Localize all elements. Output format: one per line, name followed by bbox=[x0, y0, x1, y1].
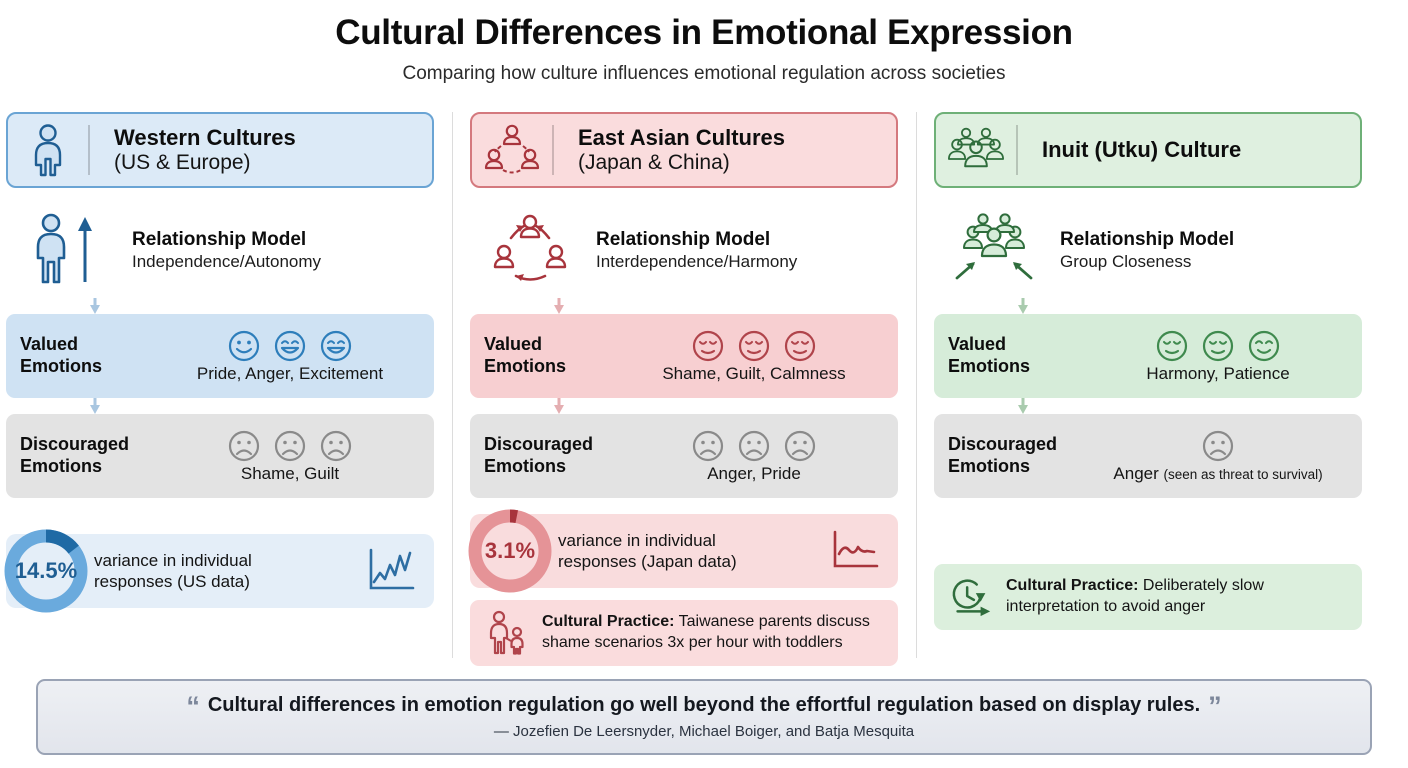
culture-region-western: (US & Europe) bbox=[114, 151, 296, 176]
frown-face-icon bbox=[737, 429, 771, 463]
grin-face-icon bbox=[319, 329, 353, 363]
group-of-people-icon bbox=[948, 122, 1004, 178]
discouraged-emotions-east-asian: Discouraged Emotions bbox=[470, 414, 898, 498]
cultural-practice-inuit: Cultural Practice: Deliberately slow int… bbox=[934, 564, 1362, 630]
quote-attribution: — Jozefien De Leersnyder, Michael Boiger… bbox=[494, 723, 914, 740]
page-title: Cultural Differences in Emotional Expres… bbox=[0, 14, 1408, 53]
valued-label-line1: Valued bbox=[484, 334, 542, 354]
frown-face-icon bbox=[1201, 429, 1235, 463]
connector-arrow-western-1 bbox=[6, 298, 434, 314]
valued-label-line2: Emotions bbox=[20, 356, 102, 376]
practice-text-line2-east-asian: shame scenarios 3x per hour with toddler… bbox=[542, 634, 843, 651]
valued-text-east-asian: Shame, Guilt, Calmness bbox=[662, 364, 845, 384]
culture-name-western: Western Cultures bbox=[114, 125, 296, 151]
volatile-line-chart-icon bbox=[360, 546, 422, 596]
discouraged-faces-inuit bbox=[1201, 429, 1235, 463]
frown-face-icon bbox=[227, 429, 261, 463]
header-divider bbox=[552, 125, 554, 175]
relationship-title-inuit: Relationship Model bbox=[1060, 228, 1234, 252]
connector-arrow-western-2 bbox=[6, 398, 434, 414]
valued-faces-east-asian bbox=[691, 329, 817, 363]
valued-label-line1: Valued bbox=[948, 334, 1006, 354]
stat-row-western: 14.5% variance in individual responses (… bbox=[6, 534, 434, 608]
valued-faces-western bbox=[227, 329, 353, 363]
infographic-page: Cultural Differences in Emotional Expres… bbox=[0, 0, 1408, 768]
discouraged-emotions-inuit: Discouraged Emotions Anger (seen as thre… bbox=[934, 414, 1362, 498]
variance-text-line1-east-asian: variance in individual bbox=[558, 531, 716, 550]
valued-text-western: Pride, Anger, Excitement bbox=[197, 364, 383, 384]
three-people-network-icon bbox=[484, 122, 540, 178]
discouraged-label-line1: Discouraged bbox=[20, 434, 129, 454]
valued-label-line1: Valued bbox=[20, 334, 78, 354]
calm-face-icon bbox=[783, 329, 817, 363]
column-inuit: Inuit (Utku) Culture bbox=[928, 112, 1368, 630]
practice-label-inuit: Cultural Practice: bbox=[1006, 577, 1138, 594]
column-east-asian: East Asian Cultures (Japan & China) bbox=[464, 112, 904, 666]
practice-text-line2-inuit: interpretation to avoid anger bbox=[1006, 598, 1205, 615]
valued-label-line2: Emotions bbox=[484, 356, 566, 376]
discouraged-faces-western bbox=[227, 429, 353, 463]
culture-header-inuit: Inuit (Utku) Culture bbox=[934, 112, 1362, 188]
circular-people-arrows-icon bbox=[478, 210, 582, 290]
calm-face-icon bbox=[737, 329, 771, 363]
culture-name-inuit: Inuit (Utku) Culture bbox=[1042, 137, 1241, 163]
person-with-up-arrow-icon bbox=[14, 212, 118, 288]
relationship-sub-western: Independence/Autonomy bbox=[132, 251, 321, 272]
practice-text-line1-east-asian: Taiwanese parents discuss bbox=[674, 613, 869, 630]
relationship-model-western: Relationship Model Independence/Autonomy bbox=[6, 202, 434, 298]
column-divider-1 bbox=[440, 112, 464, 658]
discouraged-text-east-asian: Anger, Pride bbox=[707, 464, 801, 484]
valued-emotions-east-asian: Valued Emotions bbox=[470, 314, 898, 398]
flat-line-chart-icon bbox=[824, 528, 886, 574]
calm-face-icon bbox=[1201, 329, 1235, 363]
happy-face-icon bbox=[1247, 329, 1281, 363]
variance-text-line1-western: variance in individual bbox=[94, 551, 252, 570]
variance-text-line2-western: responses (US data) bbox=[94, 572, 250, 591]
page-subtitle: Comparing how culture influences emotion… bbox=[0, 63, 1408, 85]
cultural-practice-east-asian: Cultural Practice: Taiwanese parents dis… bbox=[470, 600, 898, 666]
connector-arrow-inuit-1 bbox=[934, 298, 1362, 314]
discouraged-text-note-inuit: (seen as threat to survival) bbox=[1164, 467, 1323, 482]
quote-close-mark: ” bbox=[1208, 694, 1222, 718]
calm-face-icon bbox=[1155, 329, 1189, 363]
group-with-inward-arrows-icon bbox=[942, 210, 1046, 290]
relationship-sub-inuit: Group Closeness bbox=[1060, 251, 1234, 272]
culture-header-western: Western Cultures (US & Europe) bbox=[6, 112, 434, 188]
culture-region-east-asian: (Japan & China) bbox=[578, 151, 785, 176]
relationship-title-western: Relationship Model bbox=[132, 228, 321, 252]
header-divider bbox=[88, 125, 90, 175]
smile-face-icon bbox=[227, 329, 261, 363]
discouraged-text-main-inuit: Anger bbox=[1113, 464, 1163, 483]
variance-text-line2-east-asian: responses (Japan data) bbox=[558, 552, 737, 571]
valued-emotions-inuit: Valued Emotions bbox=[934, 314, 1362, 398]
column-divider-2 bbox=[904, 112, 928, 658]
discouraged-emotions-western: Discouraged Emotions bbox=[6, 414, 434, 498]
frown-face-icon bbox=[783, 429, 817, 463]
stat-row-east-asian: 3.1% variance in individual responses (J… bbox=[470, 514, 898, 588]
frown-face-icon bbox=[319, 429, 353, 463]
clock-with-arrow-icon bbox=[948, 574, 994, 620]
discouraged-label-line2: Emotions bbox=[484, 456, 566, 476]
quote-text: Cultural differences in emotion regulati… bbox=[208, 694, 1200, 717]
discouraged-label-line2: Emotions bbox=[20, 456, 102, 476]
discouraged-text-western: Shame, Guilt bbox=[241, 464, 339, 484]
discouraged-faces-east-asian bbox=[691, 429, 817, 463]
valued-label-line2: Emotions bbox=[948, 356, 1030, 376]
column-western: Western Cultures (US & Europe) Relations… bbox=[0, 112, 440, 608]
calm-face-icon bbox=[691, 329, 725, 363]
relationship-model-inuit: Relationship Model Group Closeness bbox=[934, 202, 1362, 298]
header: Cultural Differences in Emotional Expres… bbox=[0, 0, 1408, 85]
relationship-model-east-asian: Relationship Model Interdependence/Harmo… bbox=[470, 202, 898, 298]
culture-columns: Western Cultures (US & Europe) Relations… bbox=[0, 112, 1408, 670]
connector-arrow-east-2 bbox=[470, 398, 898, 414]
quote-bar: “ Cultural differences in emotion regula… bbox=[36, 679, 1372, 755]
culture-header-east-asian: East Asian Cultures (Japan & China) bbox=[470, 112, 898, 188]
variance-value-east-asian: 3.1% bbox=[462, 503, 558, 599]
variance-value-western: 14.5% bbox=[0, 523, 94, 619]
valued-text-inuit: Harmony, Patience bbox=[1146, 364, 1289, 384]
practice-label-east-asian: Cultural Practice: bbox=[542, 613, 674, 630]
practice-text-line1-inuit: Deliberately slow bbox=[1138, 577, 1263, 594]
relationship-sub-east-asian: Interdependence/Harmony bbox=[596, 251, 797, 272]
variance-donut-east-asian: 3.1% bbox=[462, 503, 558, 599]
valued-emotions-western: Valued Emotions bbox=[6, 314, 434, 398]
single-person-icon bbox=[20, 123, 76, 177]
discouraged-label-line2: Emotions bbox=[948, 456, 1030, 476]
grin-face-icon bbox=[273, 329, 307, 363]
frown-face-icon bbox=[273, 429, 307, 463]
valued-faces-inuit bbox=[1155, 329, 1281, 363]
parent-and-child-icon bbox=[484, 610, 530, 656]
frown-face-icon bbox=[691, 429, 725, 463]
quote-open-mark: “ bbox=[186, 694, 200, 718]
connector-arrow-inuit-2 bbox=[934, 398, 1362, 414]
culture-name-east-asian: East Asian Cultures bbox=[578, 125, 785, 151]
variance-donut-western: 14.5% bbox=[0, 523, 94, 619]
discouraged-label-line1: Discouraged bbox=[484, 434, 593, 454]
relationship-title-east-asian: Relationship Model bbox=[596, 228, 797, 252]
header-divider bbox=[1016, 125, 1018, 175]
connector-arrow-east-1 bbox=[470, 298, 898, 314]
discouraged-label-line1: Discouraged bbox=[948, 434, 1057, 454]
